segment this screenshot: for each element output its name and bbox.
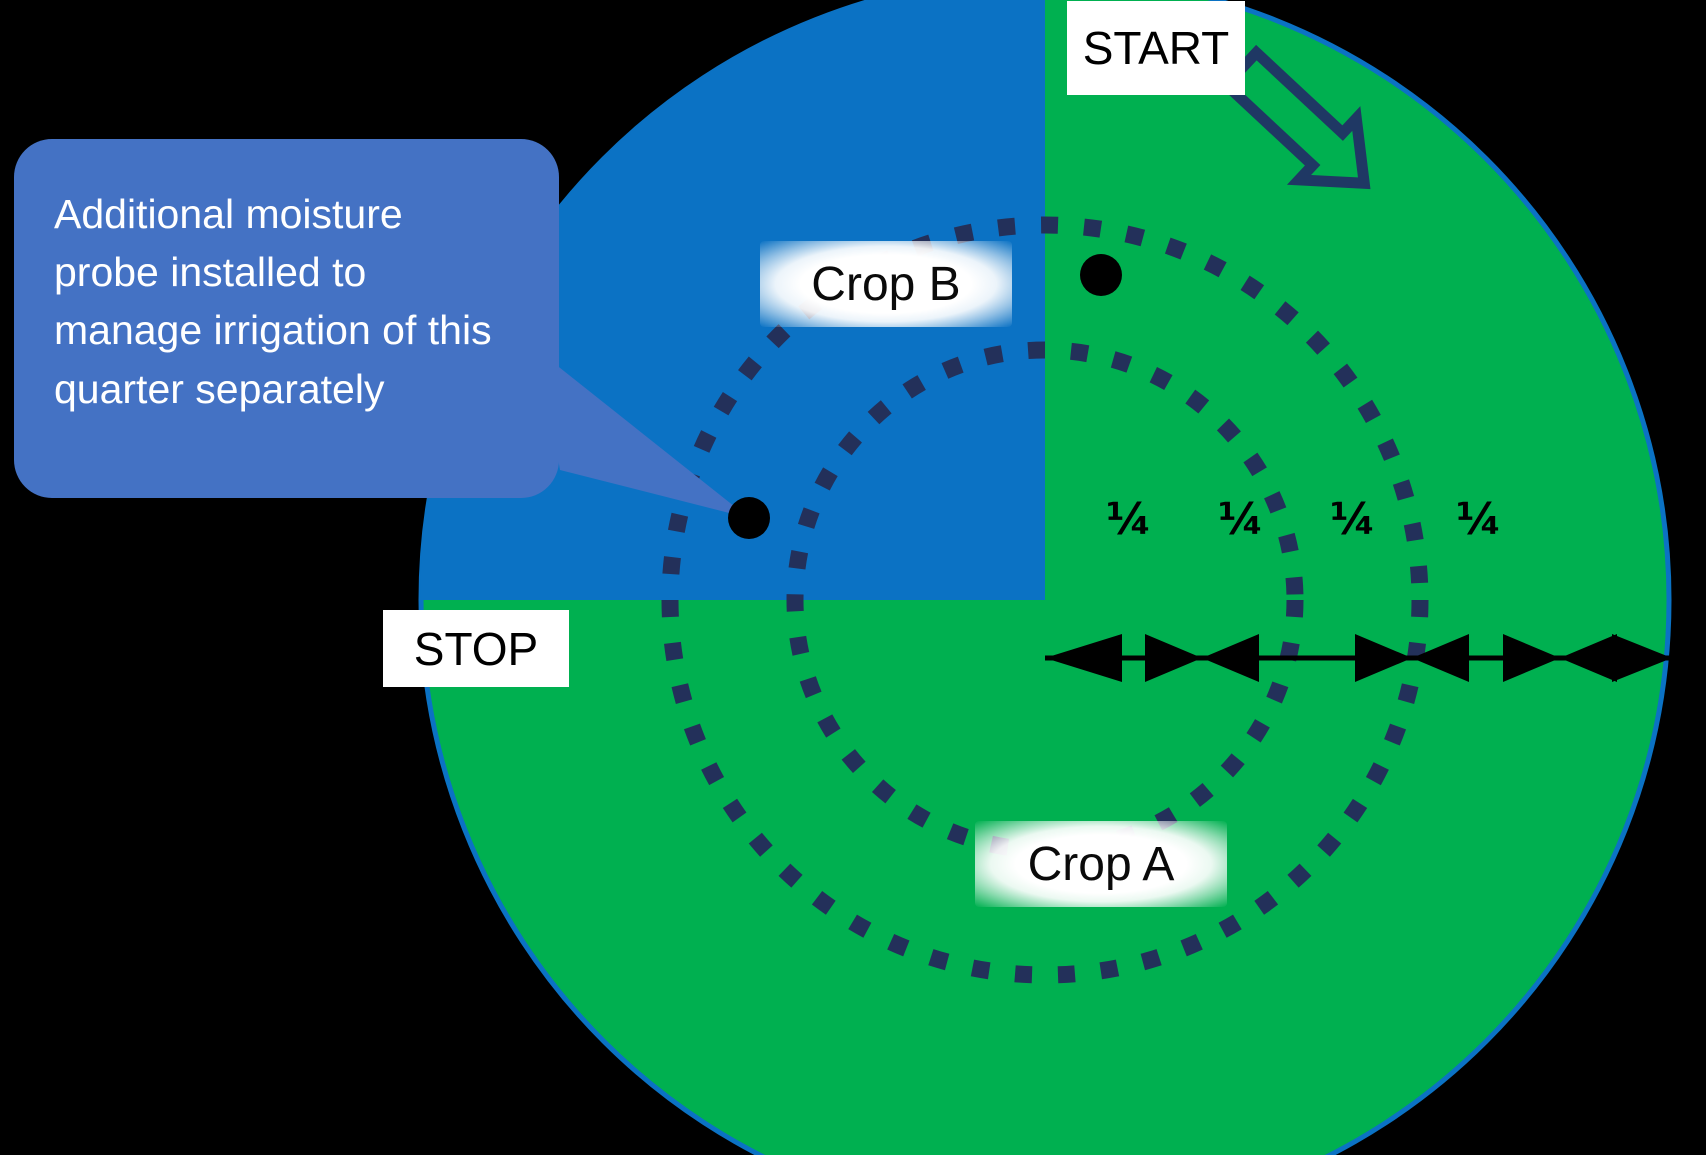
crop-a-label: Crop A [975, 821, 1227, 907]
start-label: START [1067, 1, 1245, 95]
callout-box: Additional moisture probe installed to m… [14, 139, 559, 498]
quarter-label-2: ¼ [1218, 494, 1264, 545]
moisture-probe-crop-a [1080, 254, 1122, 296]
callout-line-1: Additional moisture [54, 185, 519, 243]
callout-line-4: quarter separately [54, 360, 519, 418]
quarter-label-3: ¼ [1330, 494, 1376, 545]
stop-label: STOP [383, 610, 569, 687]
moisture-probe-crop-b [728, 497, 770, 539]
callout-line-2: probe installed to [54, 243, 519, 301]
quarter-label-1: ¼ [1106, 494, 1152, 545]
diagram-canvas: Additional moisture probe installed to m… [0, 0, 1706, 1155]
crop-b-label: Crop B [760, 241, 1012, 327]
quarter-label-4: ¼ [1456, 494, 1502, 545]
callout-line-3: manage irrigation of this [54, 301, 519, 359]
